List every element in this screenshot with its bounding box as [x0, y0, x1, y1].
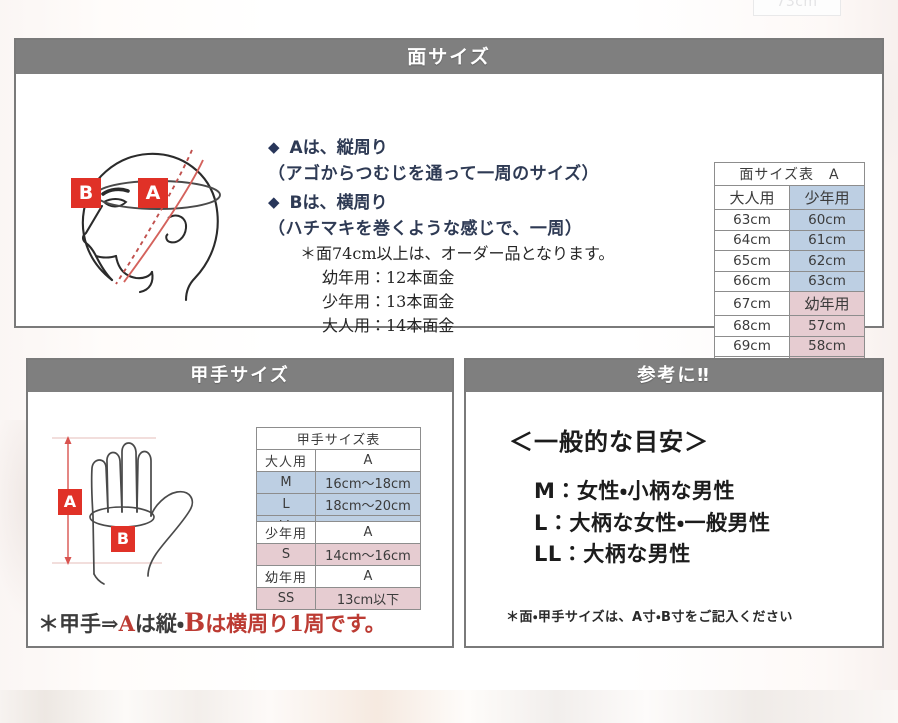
table-row: 64cm 61cm — [715, 230, 865, 251]
kote-infant-header-label: 幼年用 — [257, 566, 316, 588]
reference-entry-note: ＊面・甲手サイズは、A寸・B寸をご記入ください — [506, 606, 793, 625]
kote-size-range: 13cm以下 — [316, 588, 421, 610]
reference-panel-header: 参考に‼ — [466, 360, 882, 392]
reference-panel: 参考に‼ ＜一般的な目安＞ M：女性・小柄な男性 L：大柄な女性・一般男性 LL… — [464, 358, 884, 648]
table-row: 面サイズ表 A — [715, 163, 865, 186]
table-row: 大人用 A — [257, 450, 421, 472]
men-bullet-a-label: Aは、縦周り — [290, 136, 388, 161]
table-row: S 14cm〜16cm — [257, 544, 421, 566]
men-adult-size: 69cm — [715, 336, 790, 357]
table-row: 66cm 63cm — [715, 271, 865, 292]
men-bullet-b: ◆ Bは、横周り — [268, 191, 698, 216]
kote-youth-size-table: 少年用 A S 14cm〜16cm 幼年用 A SS 13cm以下 — [256, 521, 421, 610]
diamond-icon: ◆ — [268, 191, 280, 214]
men-note-line-1: ＊面74cm以上は、オーダー品となります。 — [300, 242, 614, 266]
kote-table-title: 甲手サイズ表 — [257, 428, 421, 450]
men-bullet-b-detail: （ハチマキを巻くような感じで、一周） — [268, 217, 698, 243]
men-note-line-2: 幼年用：12本面金 — [300, 266, 614, 290]
kote-size-label: S — [257, 544, 316, 566]
hand-label-a-chip: A — [58, 489, 82, 515]
kote-note-b-mark: B — [184, 608, 205, 637]
table-row: 大人用 少年用 — [715, 186, 865, 210]
head-label-a-chip: A — [138, 178, 168, 208]
reference-item-ll: LL：大柄な男性 — [534, 539, 771, 571]
kote-size-range: 16cm〜18cm — [316, 472, 421, 494]
men-panel-header: 面サイズ — [16, 40, 882, 74]
men-youth-size: 60cm — [790, 210, 865, 231]
kote-adult-header-col: A — [316, 450, 421, 472]
men-bullet-a-detail: （アゴからつむじを通って一周のサイズ） — [268, 162, 698, 188]
men-instructions: ◆ Aは、縦周り （アゴからつむじを通って一周のサイズ） ◆ Bは、横周り （ハ… — [268, 136, 698, 246]
kote-size-label: SS — [257, 588, 316, 610]
kote-youth-header-label: 少年用 — [257, 522, 316, 544]
table-row: 少年用 A — [257, 522, 421, 544]
men-order-note: ＊面74cm以上は、オーダー品となります。 幼年用：12本面金 少年用：13本面… — [300, 242, 614, 338]
table-row: L 18cm〜20cm — [257, 494, 421, 516]
reference-size-guide: M：女性・小柄な男性 L：大柄な女性・一般男性 LL：大柄な男性 — [534, 476, 771, 571]
kote-youth-header-col: A — [316, 522, 421, 544]
table-row: M 16cm〜18cm — [257, 472, 421, 494]
men-adult-size: 65cm — [715, 251, 790, 272]
men-adult-size: 63cm — [715, 210, 790, 231]
men-size-panel: 面サイズ A B ◆ — [14, 38, 884, 328]
background-photo-strip — [0, 690, 898, 723]
kote-note-a-mark: A — [119, 611, 135, 636]
men-table-header-youth: 少年用 — [790, 186, 865, 210]
reference-title: ＜一般的な目安＞ — [509, 422, 709, 457]
men-adult-size: 64cm — [715, 230, 790, 251]
diamond-icon: ◆ — [268, 136, 280, 159]
men-adult-size: 68cm — [715, 316, 790, 337]
kote-size-range: 14cm〜16cm — [316, 544, 421, 566]
men-table-title: 面サイズ表 A — [715, 163, 865, 186]
head-diagram — [40, 132, 270, 322]
hand-label-b-chip: B — [111, 526, 135, 552]
kote-size-label: L — [257, 494, 316, 516]
men-table-header-adult: 大人用 — [715, 186, 790, 210]
table-row: 65cm 62cm — [715, 251, 865, 272]
men-bullet-b-label: Bは、横周り — [290, 191, 388, 216]
kote-note-mid: は縦・ — [135, 611, 184, 636]
men-note-line-4: 大人用：14本面金 — [300, 314, 614, 338]
men-youth-size: 61cm — [790, 230, 865, 251]
table-row: 68cm 57cm — [715, 316, 865, 337]
kote-panel-header: 甲手サイズ — [28, 360, 452, 392]
kote-note-suffix: は横周り1周です。 — [205, 611, 386, 636]
men-infant-size: 57cm — [790, 316, 865, 337]
cut-off-size-cell-fragment: 73cm — [753, 0, 841, 16]
kote-size-range: 18cm〜20cm — [316, 494, 421, 516]
men-infant-size: 58cm — [790, 336, 865, 357]
kote-measurement-note: ＊甲手⇒Aは縦・Bは横周り1周です。 — [38, 608, 386, 638]
kote-size-label: M — [257, 472, 316, 494]
table-row: SS 13cm以下 — [257, 588, 421, 610]
men-youth-size: 62cm — [790, 251, 865, 272]
men-youth-size: 63cm — [790, 271, 865, 292]
reference-item-l: L：大柄な女性・一般男性 — [534, 508, 771, 540]
head-label-b-chip: B — [71, 178, 101, 208]
reference-item-m: M：女性・小柄な男性 — [534, 476, 771, 508]
men-note-line-3: 少年用：13本面金 — [300, 290, 614, 314]
kote-note-prefix: ＊甲手⇒ — [38, 611, 119, 636]
table-row: 67cm 幼年用 — [715, 292, 865, 316]
table-row: 幼年用 A — [257, 566, 421, 588]
kote-adult-header-label: 大人用 — [257, 450, 316, 472]
men-adult-size: 66cm — [715, 271, 790, 292]
kote-infant-header-col: A — [316, 566, 421, 588]
table-row: 63cm 60cm — [715, 210, 865, 231]
men-adult-size: 67cm — [715, 292, 790, 316]
men-youth-subheader: 幼年用 — [790, 292, 865, 316]
table-row: 69cm 58cm — [715, 336, 865, 357]
men-bullet-a: ◆ Aは、縦周り — [268, 136, 698, 161]
table-row: 甲手サイズ表 — [257, 428, 421, 450]
